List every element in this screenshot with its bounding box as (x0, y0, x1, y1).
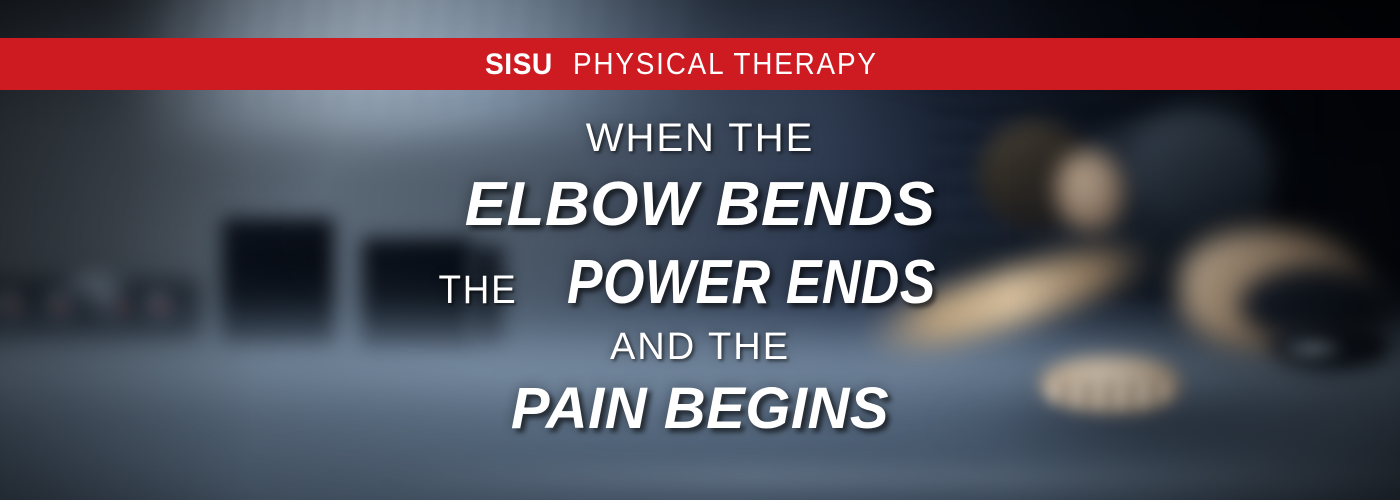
headline-line-3: THE POWER ENDS (0, 252, 1400, 314)
headline-text-elbow-bends: ELBOW BENDS (465, 170, 936, 239)
headline-line-4: AND THE (0, 328, 1400, 366)
brand-bar: SISU PHYSICAL THERAPY (0, 38, 1400, 90)
headline-text-pain-begins: PAIN BEGINS (511, 376, 889, 441)
brand-lockup: SISU PHYSICAL THERAPY (485, 48, 912, 80)
headline-text-the: THE (438, 270, 517, 310)
headline-block: WHEN THE ELBOW BENDS THE POWER ENDS AND … (0, 118, 1400, 438)
headline-line-1: WHEN THE (0, 118, 1400, 158)
headline-line-2: ELBOW BENDS (0, 174, 1400, 236)
headline-text-when-the: WHEN THE (586, 116, 815, 160)
promo-banner: SISU PHYSICAL THERAPY WHEN THE ELBOW BEN… (0, 0, 1400, 500)
headline-text-power-ends: POWER ENDS (567, 252, 936, 314)
brand-wordmark: PHYSICAL THERAPY (573, 48, 878, 79)
headline-text-and-the: AND THE (610, 326, 790, 368)
headline-line-5: PAIN BEGINS (0, 380, 1400, 438)
brand-mark: SISU (485, 50, 553, 80)
